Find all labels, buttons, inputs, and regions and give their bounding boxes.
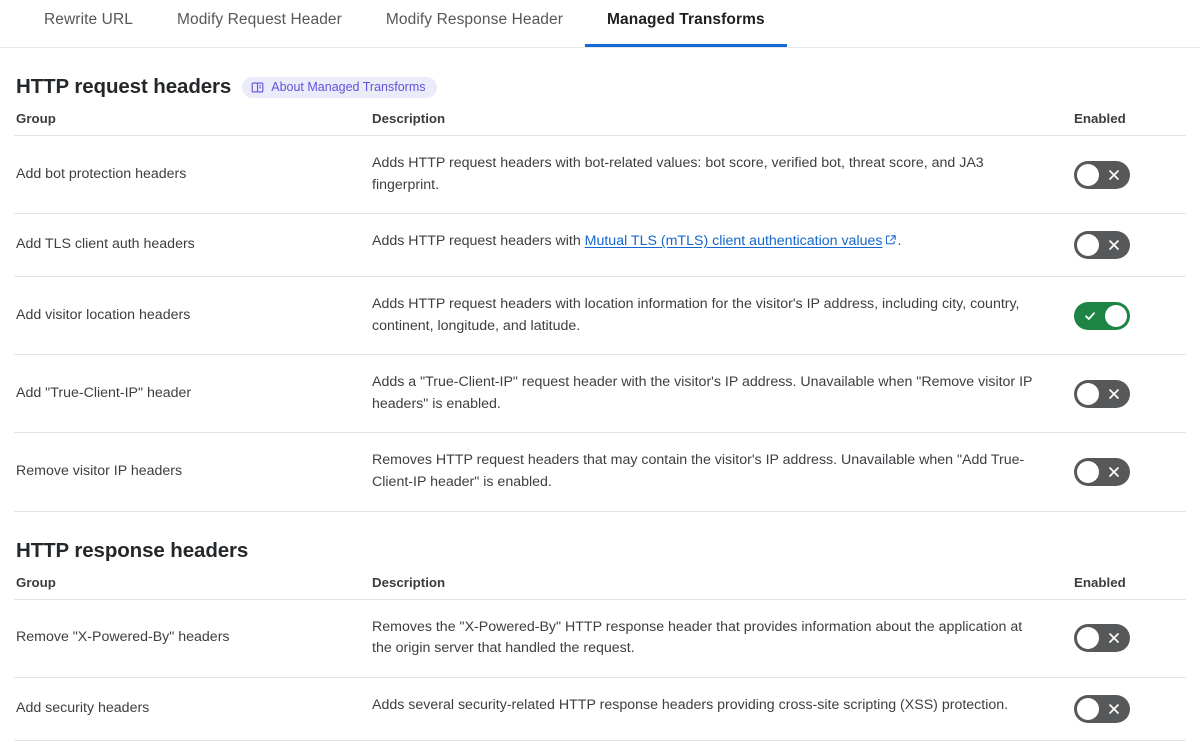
row-group-name: Remove "X-Powered-By" headers bbox=[14, 599, 372, 677]
toggle-knob bbox=[1077, 461, 1099, 483]
description-prefix: Adds HTTP request headers with bbox=[372, 233, 585, 249]
close-icon bbox=[1100, 458, 1128, 486]
close-icon bbox=[1100, 695, 1128, 723]
response-headers-table: Group Description Enabled Remove "X-Powe… bbox=[14, 572, 1186, 741]
section-http-request-headers: HTTP request headers About Managed Trans… bbox=[0, 48, 1200, 512]
row-group-name: Add bot protection headers bbox=[14, 136, 372, 214]
row-description: Adds several security-related HTTP respo… bbox=[372, 677, 1074, 740]
table-row: Add bot protection headers Adds HTTP req… bbox=[14, 136, 1186, 214]
request-headers-table: Group Description Enabled Add bot protec… bbox=[14, 108, 1186, 512]
about-managed-transforms-badge[interactable]: About Managed Transforms bbox=[242, 77, 437, 98]
row-enabled-cell bbox=[1074, 277, 1186, 355]
row-description: Adds a "True-Client-IP" request header w… bbox=[372, 355, 1074, 433]
toggle-add-true-client-ip-header[interactable] bbox=[1074, 380, 1130, 408]
row-enabled-cell bbox=[1074, 433, 1186, 511]
external-link-icon[interactable] bbox=[885, 232, 897, 254]
toggle-add-bot-protection-headers[interactable] bbox=[1074, 161, 1130, 189]
tab-modify-request-header[interactable]: Modify Request Header bbox=[155, 0, 364, 47]
close-icon bbox=[1100, 161, 1128, 189]
row-group-name: Add TLS client auth headers bbox=[14, 214, 372, 277]
table-row: Remove "X-Powered-By" headers Removes th… bbox=[14, 599, 1186, 677]
toggle-knob bbox=[1077, 627, 1099, 649]
column-header-description: Description bbox=[372, 108, 1074, 136]
row-enabled-cell bbox=[1074, 677, 1186, 740]
tab-rewrite-url[interactable]: Rewrite URL bbox=[22, 0, 155, 47]
column-header-group: Group bbox=[14, 572, 372, 600]
row-description: Adds HTTP request headers with location … bbox=[372, 277, 1074, 355]
section-http-response-headers: HTTP response headers Group Description … bbox=[0, 512, 1200, 741]
toggle-add-security-headers[interactable] bbox=[1074, 695, 1130, 723]
toggle-remove-visitor-ip-headers[interactable] bbox=[1074, 458, 1130, 486]
toggle-add-visitor-location-headers[interactable] bbox=[1074, 302, 1130, 330]
toggle-knob bbox=[1077, 383, 1099, 405]
section-header: HTTP request headers About Managed Trans… bbox=[14, 48, 1186, 108]
row-description: Removes the "X-Powered-By" HTTP response… bbox=[372, 599, 1074, 677]
table-row: Add TLS client auth headers Adds HTTP re… bbox=[14, 214, 1186, 277]
close-icon bbox=[1100, 231, 1128, 259]
row-enabled-cell bbox=[1074, 214, 1186, 277]
close-icon bbox=[1100, 380, 1128, 408]
row-enabled-cell bbox=[1074, 599, 1186, 677]
table-row: Add "True-Client-IP" header Adds a "True… bbox=[14, 355, 1186, 433]
row-description: Adds HTTP request headers with bot-relat… bbox=[372, 136, 1074, 214]
book-icon bbox=[251, 81, 264, 94]
row-description: Removes HTTP request headers that may co… bbox=[372, 433, 1074, 511]
row-enabled-cell bbox=[1074, 355, 1186, 433]
table-header-row: Group Description Enabled bbox=[14, 572, 1186, 600]
row-group-name: Remove visitor IP headers bbox=[14, 433, 372, 511]
row-group-name: Add security headers bbox=[14, 677, 372, 740]
tab-modify-response-header[interactable]: Modify Response Header bbox=[364, 0, 585, 47]
toggle-knob bbox=[1077, 164, 1099, 186]
toggle-add-tls-client-auth-headers[interactable] bbox=[1074, 231, 1130, 259]
tab-label: Modify Response Header bbox=[386, 11, 563, 28]
table-row: Add security headers Adds several securi… bbox=[14, 677, 1186, 740]
column-header-enabled: Enabled bbox=[1074, 108, 1186, 136]
tab-bar: Rewrite URL Modify Request Header Modify… bbox=[0, 0, 1200, 48]
description-suffix: . bbox=[897, 233, 901, 249]
table-row: Remove visitor IP headers Removes HTTP r… bbox=[14, 433, 1186, 511]
row-description: Adds HTTP request headers with Mutual TL… bbox=[372, 214, 1074, 277]
row-enabled-cell bbox=[1074, 136, 1186, 214]
toggle-knob bbox=[1105, 305, 1127, 327]
toggle-knob bbox=[1077, 234, 1099, 256]
tab-managed-transforms[interactable]: Managed Transforms bbox=[585, 0, 787, 47]
tab-label: Managed Transforms bbox=[607, 11, 765, 28]
mtls-docs-link[interactable]: Mutual TLS (mTLS) client authentication … bbox=[585, 233, 883, 249]
column-header-enabled: Enabled bbox=[1074, 572, 1186, 600]
toggle-remove-x-powered-by-headers[interactable] bbox=[1074, 624, 1130, 652]
page-title: HTTP response headers bbox=[16, 539, 248, 563]
section-header: HTTP response headers bbox=[14, 512, 1186, 572]
row-group-name: Add "True-Client-IP" header bbox=[14, 355, 372, 433]
toggle-knob bbox=[1077, 698, 1099, 720]
close-icon bbox=[1100, 624, 1128, 652]
table-header-row: Group Description Enabled bbox=[14, 108, 1186, 136]
column-header-group: Group bbox=[14, 108, 372, 136]
tab-label: Modify Request Header bbox=[177, 11, 342, 28]
check-icon bbox=[1076, 302, 1104, 330]
column-header-description: Description bbox=[372, 572, 1074, 600]
tab-label: Rewrite URL bbox=[44, 11, 133, 28]
badge-label: About Managed Transforms bbox=[271, 81, 425, 94]
page-title: HTTP request headers bbox=[16, 75, 231, 99]
table-row: Add visitor location headers Adds HTTP r… bbox=[14, 277, 1186, 355]
row-group-name: Add visitor location headers bbox=[14, 277, 372, 355]
